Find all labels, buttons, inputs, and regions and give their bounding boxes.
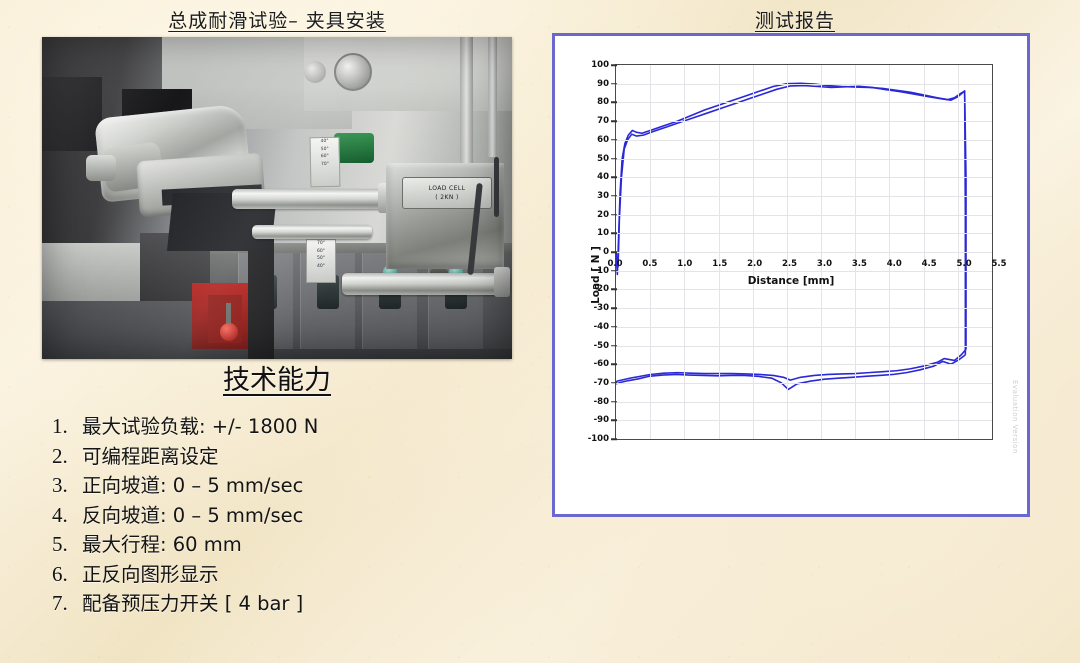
chart-x-tick: 3.0: [817, 259, 832, 269]
chart-gridline-v: [787, 65, 788, 439]
chart-watermark: Evaluation Version: [1011, 380, 1019, 454]
chart-x-tick: 1.0: [677, 259, 692, 269]
capability-item-text: 配备预压力开关 [ 4 bar ]: [82, 589, 303, 619]
chart-gridline-v: [924, 65, 925, 439]
chart-y-tick: 0: [603, 247, 609, 257]
chart-x-axis-label: Distance [mm]: [559, 275, 1023, 287]
chart-gridline-h: [616, 271, 992, 272]
chart-x-tick: 4.5: [922, 259, 937, 269]
chart-gridline-h: [616, 346, 992, 347]
chart-y-tick: -90: [594, 415, 609, 425]
capability-item-number: 5.: [52, 530, 82, 560]
capability-item-text: 最大试验负载: +/- 1800 N: [82, 412, 318, 442]
chart-x-tick: 2.5: [782, 259, 797, 269]
chart-series-forward-stroke-1: [616, 83, 966, 349]
chart-y-tick: -30: [594, 303, 609, 313]
capability-item: 4.反向坡道: 0 – 5 mm/sec: [52, 501, 532, 531]
chart-y-tick: 20: [597, 210, 609, 220]
chart-y-tick: 100: [591, 60, 609, 70]
chart-series-return-stroke-2: [616, 355, 965, 390]
capability-item-number: 2.: [52, 442, 82, 472]
capability-item: 7.配备预压力开关 [ 4 bar ]: [52, 589, 532, 619]
chart-gridline-h: [616, 383, 992, 384]
chart-gridline-h: [616, 233, 992, 234]
chart-y-tick: -70: [594, 378, 609, 388]
capability-item-number: 1.: [52, 412, 82, 442]
capability-item-number: 6.: [52, 560, 82, 590]
chart-gridline-h: [616, 252, 992, 253]
chart-gridline-h: [616, 84, 992, 85]
capability-item-text: 正反向图形显示: [82, 560, 219, 590]
chart-gridline-v: [684, 65, 685, 439]
page-title-right: 测试报告: [560, 6, 1030, 33]
chart-gridline-v: [650, 65, 651, 439]
capability-item-text: 最大行程: 60 mm: [82, 530, 242, 560]
chart-gridline-h: [616, 177, 992, 178]
chart-plot-area: 1009080706050403020100-10-20-30-40-50-60…: [615, 64, 993, 440]
chart-gridline-h: [616, 402, 992, 403]
chart-gridline-h: [616, 121, 992, 122]
capability-item: 5.最大行程: 60 mm: [52, 530, 532, 560]
chart-gridline-v: [855, 65, 856, 439]
chart-gridline-v: [821, 65, 822, 439]
chart-y-tick: -100: [588, 434, 609, 444]
chart-y-tick: -60: [594, 359, 609, 369]
chart-gridline-h: [616, 289, 992, 290]
chart-gridline-h: [616, 159, 992, 160]
test-report-chart-panel: Load [ N ] 1009080706050403020100-10-20-…: [552, 33, 1030, 517]
chart-series-return-stroke-1: [616, 349, 966, 382]
chart-gridline-h: [616, 327, 992, 328]
capability-item: 3.正向坡道: 0 – 5 mm/sec: [52, 471, 532, 501]
chart-x-tick: 5.5: [991, 259, 1006, 269]
chart-gridline-v: [719, 65, 720, 439]
chart-y-tick: 30: [597, 191, 609, 201]
chart-x-tick: 1.5: [712, 259, 727, 269]
chart-y-tick: -50: [594, 341, 609, 351]
chart-gridline-h: [616, 364, 992, 365]
chart-y-tick: -80: [594, 397, 609, 407]
capability-list: 1.最大试验负载: +/- 1800 N2.可编程距离设定3.正向坡道: 0 –…: [52, 412, 532, 619]
chart-x-tick: 0.5: [642, 259, 657, 269]
chart-series-forward-stroke-2: [616, 86, 965, 355]
capability-item: 2.可编程距离设定: [52, 442, 532, 472]
chart-gridline-h: [616, 196, 992, 197]
chart-gridline-h: [616, 420, 992, 421]
chart-y-tick: 80: [597, 97, 609, 107]
chart-y-tick: 70: [597, 116, 609, 126]
chart-gridline-h: [616, 308, 992, 309]
capability-item: 6.正反向图形显示: [52, 560, 532, 590]
capability-item-text: 可编程距离设定: [82, 442, 219, 472]
chart-gridline-v: [958, 65, 959, 439]
chart-x-tick: 0.0: [607, 259, 622, 269]
chart-y-tick: 10: [597, 228, 609, 238]
chart-y-tick: -40: [594, 322, 609, 332]
chart-x-tick: 3.5: [852, 259, 867, 269]
chart-y-tick: 50: [597, 154, 609, 164]
chart-y-tick: 90: [597, 79, 609, 89]
chart-x-tick: 4.0: [887, 259, 902, 269]
page-title-left: 总成耐滑试验– 夹具安装: [42, 6, 512, 33]
chart-y-tick: 60: [597, 135, 609, 145]
photo-vignette-overlay: [42, 37, 512, 359]
chart-inner: Load [ N ] 1009080706050403020100-10-20-…: [559, 40, 1023, 510]
fixture-installation-photo: 40° 50° 60° 70° 70° 60° 50° 40° LOAD CEL…: [42, 37, 512, 359]
capability-item-number: 7.: [52, 589, 82, 619]
capability-item-text: 正向坡道: 0 – 5 mm/sec: [82, 471, 303, 501]
chart-y-tick: 40: [597, 172, 609, 182]
chart-gridline-h: [616, 102, 992, 103]
chart-gridline-v: [753, 65, 754, 439]
chart-x-tick: 5.0: [957, 259, 972, 269]
chart-x-tick: 2.0: [747, 259, 762, 269]
capability-item-number: 3.: [52, 471, 82, 501]
capability-item-number: 4.: [52, 501, 82, 531]
capability-title: 技术能力: [42, 358, 512, 397]
chart-gridline-v: [889, 65, 890, 439]
capability-item-text: 反向坡道: 0 – 5 mm/sec: [82, 501, 303, 531]
chart-gridline-h: [616, 215, 992, 216]
capability-item: 1.最大试验负载: +/- 1800 N: [52, 412, 532, 442]
chart-gridline-h: [616, 140, 992, 141]
slide-root: 总成耐滑试验– 夹具安装 测试报告: [0, 0, 1080, 663]
